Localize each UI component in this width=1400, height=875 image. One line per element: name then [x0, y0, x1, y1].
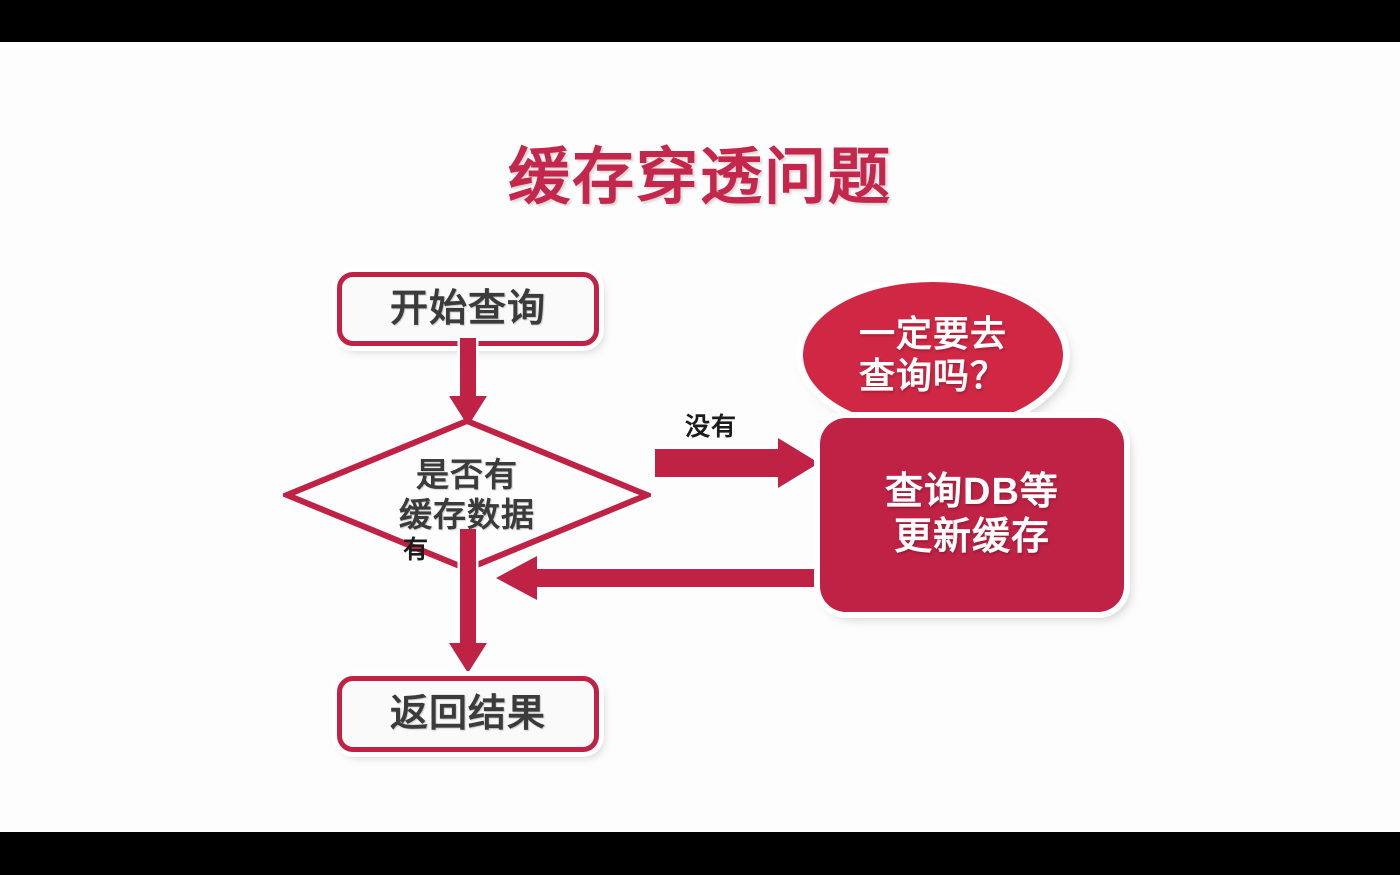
node-question-line2: 查询吗？: [859, 355, 1007, 397]
page-title: 缓存穿透问题: [0, 147, 1400, 209]
letterbox-bottom: [0, 832, 1400, 875]
node-db-line2: 更新缓存: [894, 515, 1050, 560]
letterbox-top: [0, 0, 1400, 42]
node-start-query[interactable]: 开始查询: [337, 272, 599, 346]
arrow-decision-to-db: [652, 435, 822, 491]
node-decision-line1: 是否有: [416, 455, 518, 495]
node-start-query-label: 开始查询: [390, 287, 546, 332]
edge-label-has-cache: 有: [403, 530, 429, 566]
node-question-line1: 一定要去: [859, 313, 1007, 355]
node-return-result-label: 返回结果: [390, 692, 546, 737]
slide-canvas: 缓存穿透问题 开始查询 是否有 缓存数据 没有: [0, 42, 1400, 832]
node-return-result[interactable]: 返回结果: [337, 676, 599, 752]
arrow-decision-to-result: [447, 529, 489, 677]
slide-screen: 缓存穿透问题 开始查询 是否有 缓存数据 没有: [0, 0, 1400, 875]
node-question-bubble[interactable]: 一定要去 查询吗？: [803, 282, 1063, 428]
node-db-line1: 查询DB等: [885, 470, 1059, 515]
arrow-db-to-flow: [492, 552, 822, 604]
node-query-db-update-cache[interactable]: 查询DB等 更新缓存: [820, 418, 1124, 612]
